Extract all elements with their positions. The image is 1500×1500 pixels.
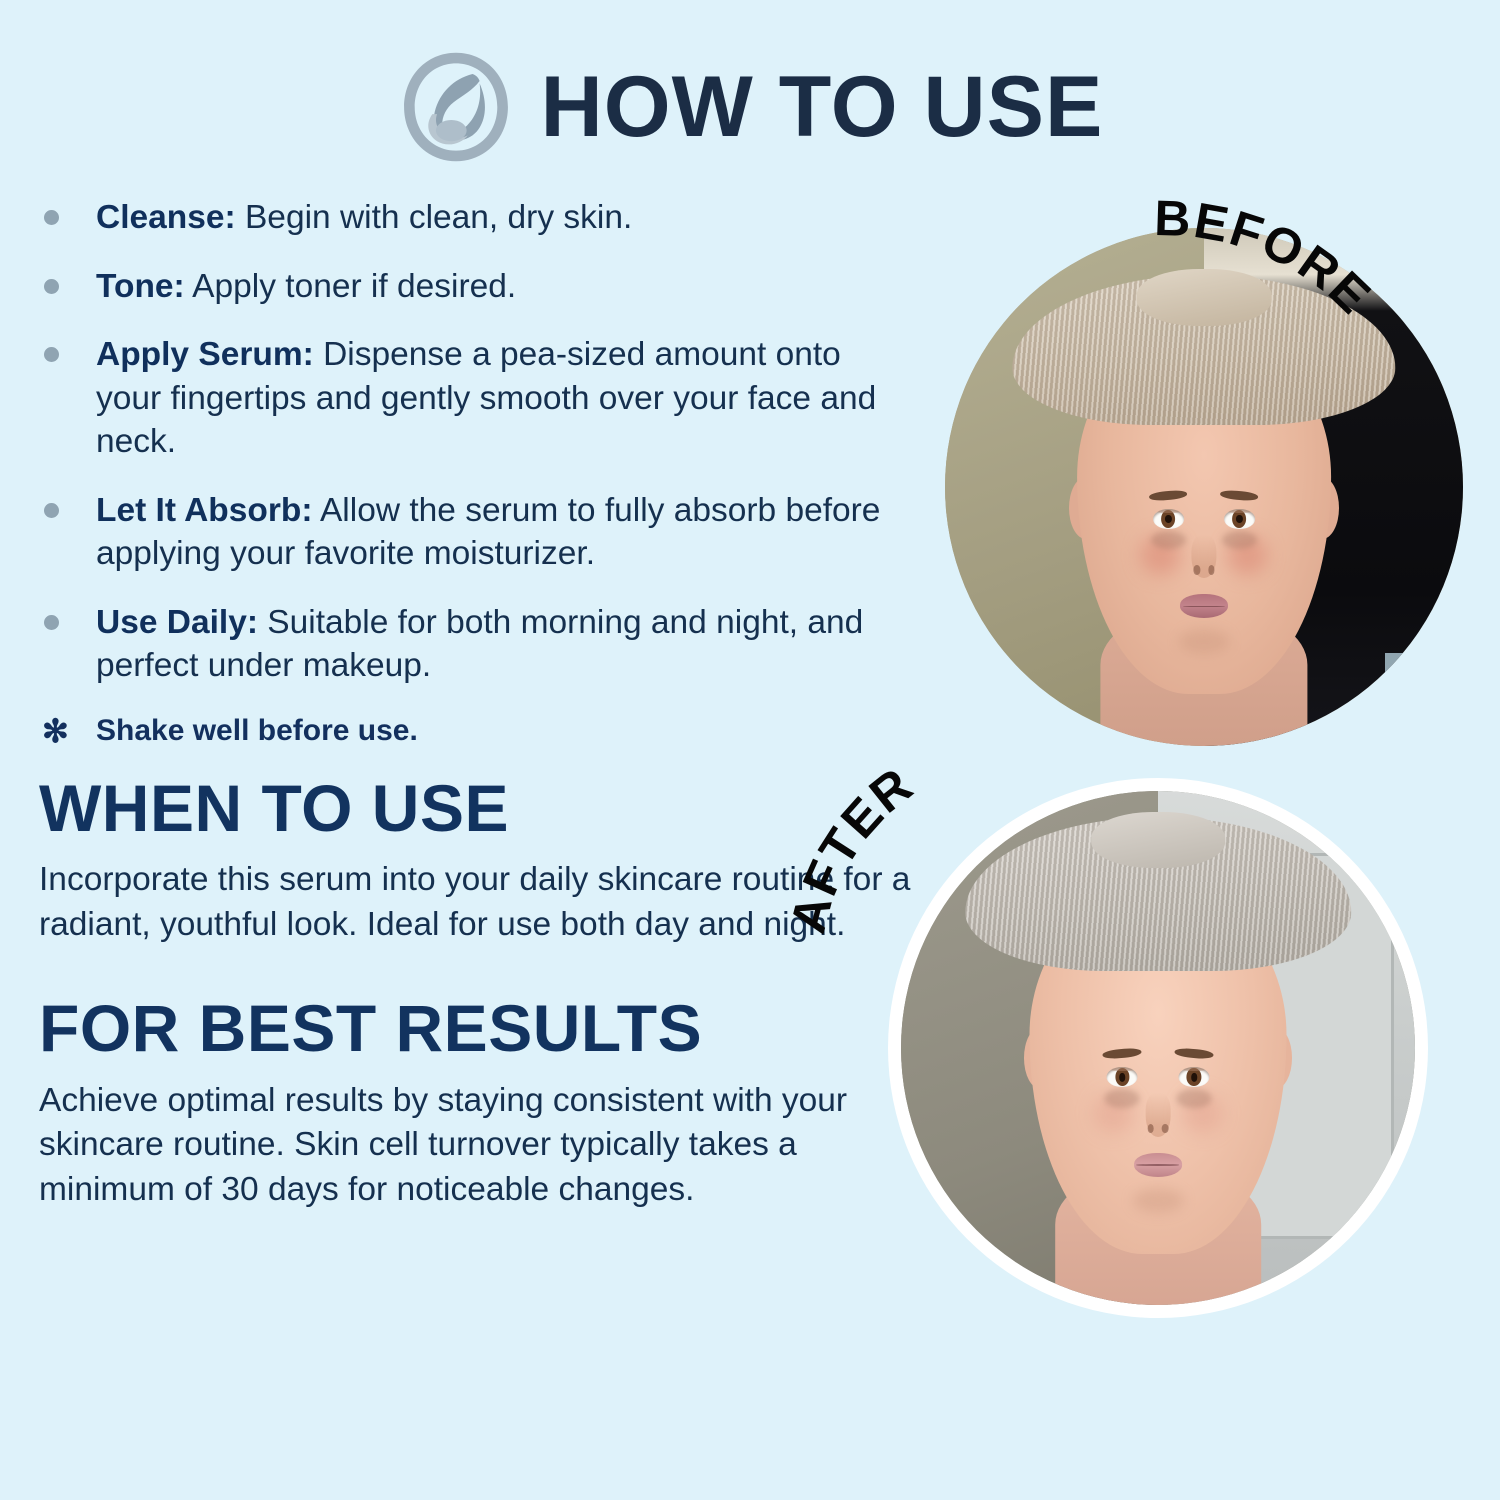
chin-shadow: [1132, 1188, 1183, 1214]
eyelid-left: [1107, 1067, 1138, 1071]
eye-left: [1153, 509, 1183, 529]
list-item: Tone: Apply toner if desired.: [34, 265, 914, 309]
eyebrow-left: [1102, 1048, 1141, 1061]
bullet-dot-icon: [44, 210, 59, 225]
section-body-when-to-use: Incorporate this serum into your daily s…: [39, 858, 914, 947]
nose: [1145, 1093, 1171, 1137]
bullet-dot-icon: [44, 347, 59, 362]
step-label: Tone:: [96, 268, 185, 305]
under-eye-shadow-left: [1151, 531, 1187, 549]
section-heading-for-best-results: FOR BEST RESULTS: [39, 995, 914, 1062]
lips: [1134, 1153, 1183, 1177]
under-eye-shadow-right: [1176, 1089, 1212, 1107]
bullet-dot-icon: [44, 503, 59, 518]
steps-list: Cleanse: Begin with clean, dry skin. Ton…: [34, 196, 914, 688]
nostril-left: [1147, 1124, 1154, 1134]
eye-left: [1107, 1067, 1138, 1087]
chin-shadow: [1179, 629, 1230, 654]
eyebrow-left: [1149, 489, 1188, 502]
before-photo-scene: [945, 228, 1463, 746]
bullet-dot-icon: [44, 615, 59, 630]
window-strip: [1385, 653, 1452, 700]
eye-right: [1224, 509, 1254, 529]
list-item: Apply Serum: Dispense a pea-sized amount…: [34, 333, 914, 464]
instructions-content: Cleanse: Begin with clean, dry skin. Ton…: [34, 196, 914, 1212]
list-item: Use Daily: Suitable for both morning and…: [34, 601, 914, 688]
eyelid-right: [1179, 1067, 1210, 1071]
section-heading-when-to-use: WHEN TO USE: [39, 775, 914, 842]
step-label: Cleanse:: [96, 199, 236, 236]
lip-line: [1183, 606, 1225, 608]
nostril-right: [1162, 1124, 1169, 1134]
list-item: Cleanse: Begin with clean, dry skin.: [34, 196, 914, 240]
infographic-page: HOW TO USE Cleanse: Begin with clean, dr…: [0, 0, 1500, 1500]
bullet-dot-icon: [44, 279, 59, 294]
under-eye-shadow-right: [1222, 531, 1258, 549]
nose: [1191, 535, 1216, 579]
leaf-droplet-circle-logo-icon: [397, 48, 515, 166]
step-label: Use Daily:: [96, 604, 258, 641]
section-body-for-best-results: Achieve optimal results by staying consi…: [39, 1079, 914, 1213]
page-header: HOW TO USE: [0, 48, 1500, 166]
under-eye-shadow-left: [1104, 1089, 1140, 1107]
lips: [1180, 594, 1228, 618]
towel-knot: [1137, 269, 1272, 326]
eyelid-left: [1153, 509, 1183, 513]
eyebrow-right: [1220, 489, 1259, 502]
after-photo-scene: [901, 791, 1415, 1305]
nostril-left: [1193, 565, 1200, 575]
note-text: Shake well before use.: [96, 714, 418, 747]
lip-line: [1137, 1164, 1180, 1166]
step-label: Apply Serum:: [96, 336, 314, 373]
eyelid-right: [1224, 509, 1254, 513]
after-photo: [901, 791, 1415, 1305]
list-item: Let It Absorb: Allow the serum to fully …: [34, 489, 914, 576]
after-photo-ring: [888, 778, 1428, 1318]
shake-well-note: ✻ Shake well before use.: [34, 713, 914, 749]
step-text: Begin with clean, dry skin.: [236, 199, 633, 236]
page-title: HOW TO USE: [541, 64, 1104, 150]
eye-right: [1179, 1067, 1210, 1087]
before-photo: [945, 228, 1463, 746]
step-text: Apply toner if desired.: [185, 268, 516, 305]
nostril-right: [1208, 565, 1215, 575]
step-label: Let It Absorb:: [96, 492, 313, 529]
eyebrow-right: [1174, 1048, 1213, 1061]
asterisk-icon: ✻: [42, 715, 69, 747]
towel-knot: [1091, 812, 1225, 869]
